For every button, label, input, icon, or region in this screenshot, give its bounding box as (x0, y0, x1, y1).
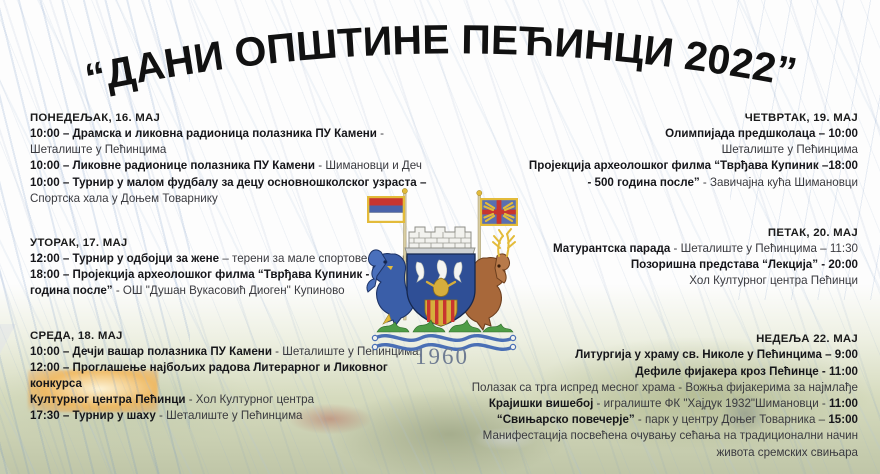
event-main: 12:00 – Турнир у одбојци за жене (30, 252, 219, 265)
event-location: Манифестација посвећена очувању сећања н… (483, 429, 858, 442)
event-time: 15:00 (828, 413, 858, 426)
event-location: Шеталиште у Пећинцима (722, 143, 858, 156)
event-row: Шеталиште у Пећинцима (438, 142, 858, 158)
event-row: 10:00 – Ликовне радионице полазника ПУ К… (30, 158, 440, 174)
event-location: - ОШ "Душан Вукасовић Диоген" Купиново (113, 284, 345, 297)
event-location: - Шеталиште у Пећинцима (156, 409, 303, 422)
coat-of-arms-svg: 1960 (347, 186, 537, 366)
event-row: “Свињарско повечерје” - парк у центру До… (438, 412, 858, 428)
event-row: живота сремских свињара (438, 445, 858, 461)
event-row: 10:00 – Драмска и ликовна радионица пола… (30, 126, 440, 158)
event-location: - Шеталиште у Пећинцима – 11:30 (670, 242, 858, 255)
event-main: Пројекција археолошког филма “Тврђава Ку… (529, 159, 858, 172)
event-location: живота сремских свињара (716, 446, 858, 459)
event-main: 12:00 – Проглашење најбољих радова Литер… (30, 361, 388, 390)
event-location: Хол Културног центра Пећинци (689, 274, 858, 287)
event-location: - Шимановци и Деч (315, 159, 422, 172)
event-main: - 500 година после” (587, 176, 699, 189)
event-location: - игралиште ФК "Хајдук 1932"Шимановци - (593, 397, 829, 410)
shield-icon (407, 254, 475, 326)
event-row: 17:30 – Турнир у шаху - Шеталиште у Пећи… (30, 408, 440, 424)
event-main: 10:00 – Драмска и ликовна радионица пола… (30, 127, 377, 140)
coat-of-arms: 1960 (347, 186, 537, 366)
event-main: Крајишки вишебој (489, 397, 593, 410)
day-title-monday: ПОНЕДЕЉАК, 16. МАЈ (30, 112, 440, 124)
event-main: “Свињарско повечерје” (497, 413, 635, 426)
emblem-year: 1960 (415, 344, 469, 366)
event-time: 11:00 (829, 397, 858, 410)
event-row: Културног центра Пећинци - Хол Културног… (30, 392, 440, 408)
event-main: 10:00 – Ликовне радионице полазника ПУ К… (30, 159, 315, 172)
title-text: “ДАНИ ОПШТИНЕ ПЕЋИНЦИ 2022” (81, 16, 800, 98)
event-location: Полазак са трга испред месног храма - Во… (472, 381, 858, 394)
event-location: - парк у центру Доњег Товарника – (635, 413, 829, 426)
poster-title: “ДАНИ ОПШТИНЕ ПЕЋИНЦИ 2022” (0, 6, 880, 98)
event-main: година после” (30, 284, 113, 297)
event-main: Културног центра Пећинци (30, 393, 185, 406)
event-location: - Хол Културног центра (185, 393, 314, 406)
event-main: 18:00 – Пројекција археолошког филма “Тв… (30, 268, 392, 281)
event-location: - Завичајна кућа Шимановци (700, 176, 858, 189)
event-row: Олимпијада предшколаца – 10:00 (438, 126, 858, 142)
day-block-thursday: ЧЕТВРТАК, 19. МАЈ Олимпијада предшколаца… (438, 112, 858, 191)
event-row: Манифестација посвећена очувању сећања н… (438, 428, 858, 444)
title-arc-svg: “ДАНИ ОПШТИНЕ ПЕЋИНЦИ 2022” (0, 6, 880, 98)
event-main: Литургија у храму св. Николе у Пећинцима… (575, 348, 858, 361)
event-row: Дефиле фијакера кроз Пећинце - 11:00 (438, 364, 858, 380)
day-title-thursday: ЧЕТВРТАК, 19. МАЈ (438, 112, 858, 124)
event-main: Дефиле фијакера кроз Пећинце - 11:00 (635, 365, 858, 378)
event-main: 17:30 – Турнир у шаху (30, 409, 156, 422)
event-row: Полазак са трга испред месног храма - Во… (438, 380, 858, 396)
event-main: Позоришна представа “Лекција” - 20:00 (631, 258, 858, 271)
event-row: Пројекција археолошког филма “Тврђава Ку… (438, 158, 858, 174)
event-main: Матурантска парада (553, 242, 670, 255)
event-row: Крајишки вишебој - игралиште ФК "Хајдук … (438, 396, 858, 412)
event-main: Олимпијада предшколаца – 10:00 (665, 127, 858, 140)
mural-crown-icon (405, 227, 475, 254)
event-main: 10:00 – Дечји вашар полазника ПУ Камени (30, 345, 272, 358)
poster-canvas: “ДАНИ ОПШТИНЕ ПЕЋИНЦИ 2022” ПОНЕДЕЉАК, 1… (0, 0, 880, 474)
event-location: Спортска хала у Доњем Товарнику (30, 192, 218, 205)
